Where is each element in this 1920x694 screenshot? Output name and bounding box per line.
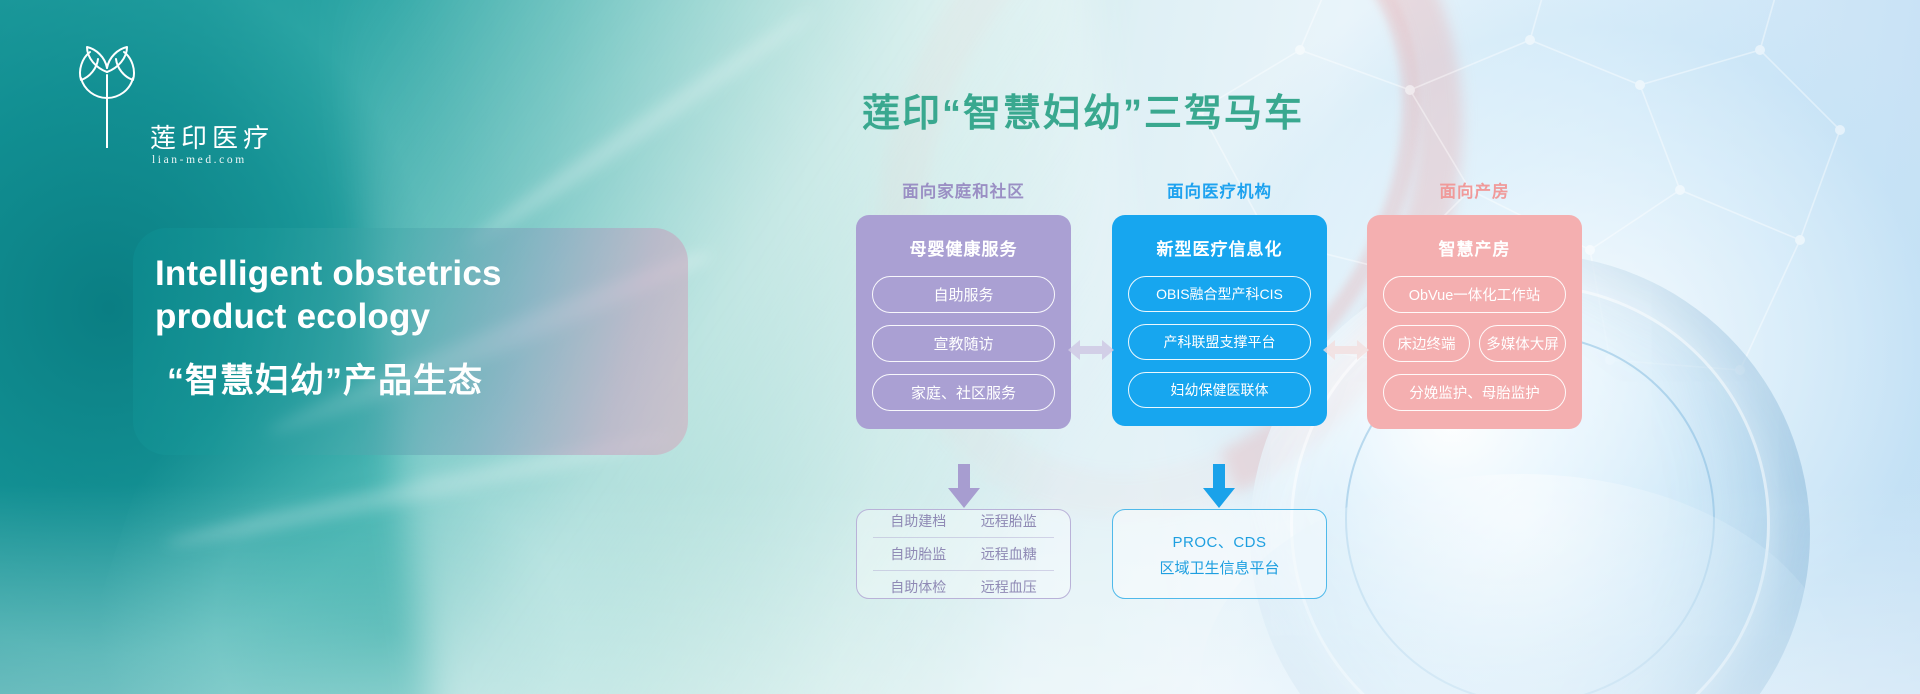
column-medical-institution: 面向医疗机构 新型医疗信息化 OBIS融合型产科CIS 产科联盟支撑平台 妇幼保…	[1112, 178, 1327, 426]
pill-obis-cis[interactable]: OBIS融合型产科CIS	[1128, 276, 1311, 312]
pill-self-service[interactable]: 自助服务	[872, 276, 1055, 313]
card-new-medical-informatization[interactable]: 新型医疗信息化 OBIS融合型产科CIS 产科联盟支撑平台 妇幼保健医联体	[1112, 215, 1327, 426]
column-header-3: 面向产房	[1367, 178, 1582, 202]
card-maternal-health-service[interactable]: 母婴健康服务 自助服务 宣教随访 家庭、社区服务	[856, 215, 1071, 429]
card-title-1: 母婴健康服务	[872, 235, 1055, 260]
column-header-2: 面向医疗机构	[1112, 178, 1327, 202]
column-delivery-room: 面向产房 智慧产房 ObVue一体化工作站 床边终端 多媒体大屏 分娩监护、母胎…	[1367, 178, 1582, 429]
pill-family-community-service[interactable]: 家庭、社区服务	[872, 374, 1055, 411]
bottom-cell-remote-glucose: 远程血糖	[964, 544, 1055, 564]
pill-maternal-child-health-union[interactable]: 妇幼保健医联体	[1128, 372, 1311, 408]
column-header-1: 面向家庭和社区	[856, 178, 1071, 202]
logo-url: lian-med.com	[152, 154, 247, 166]
bottom-grid-1: 自助建档 远程胎监 自助胎监 远程血糖 自助体检 远程血压	[857, 505, 1070, 603]
bottom-box-family-services[interactable]: 自助建档 远程胎监 自助胎监 远程血糖 自助体检 远程血压	[856, 509, 1071, 599]
bottom-cell-self-record: 自助建档	[873, 511, 964, 531]
slide-canvas: 莲印医疗 lian-med.com Intelligent obstetrics…	[0, 0, 1920, 694]
pill-multimedia-screen[interactable]: 多媒体大屏	[1479, 325, 1566, 362]
panel-english-line-2: product ecology	[155, 295, 666, 338]
panel-english-title: Intelligent obstetrics product ecology	[155, 252, 666, 339]
brand-logo: 莲印医疗 lian-med.com	[58, 28, 268, 148]
bottom-box-2-line-1: PROC、CDS	[1172, 531, 1266, 552]
pill-row-bedside: 床边终端 多媒体大屏	[1383, 325, 1566, 362]
left-title-panel: Intelligent obstetrics product ecology “…	[133, 228, 688, 455]
bottom-cell-remote-fetal: 远程胎监	[964, 511, 1055, 531]
column-family-community: 面向家庭和社区 母婴健康服务 自助服务 宣教随访 家庭、社区服务	[856, 178, 1071, 429]
bottom-cell-self-checkup: 自助体检	[873, 577, 964, 597]
bottom-row-2: 自助胎监 远程血糖	[873, 538, 1054, 571]
pill-delivery-fetal-monitoring[interactable]: 分娩监护、母胎监护	[1383, 374, 1566, 411]
pill-bedside-terminal[interactable]: 床边终端	[1383, 325, 1470, 362]
bottom-box-2-line-2: 区域卫生信息平台	[1159, 557, 1279, 578]
panel-english-line-1: Intelligent obstetrics	[155, 252, 666, 295]
card-title-2: 新型医疗信息化	[1128, 235, 1311, 260]
page-title: 莲印“智慧妇幼”三驾马车	[862, 82, 1304, 137]
pill-obstetric-alliance-platform[interactable]: 产科联盟支撑平台	[1128, 324, 1311, 360]
arrow-down-icon-2	[1202, 464, 1236, 508]
bottom-cell-remote-bp: 远程血压	[964, 577, 1055, 597]
double-arrow-horizontal-icon-2	[1323, 337, 1369, 363]
double-arrow-horizontal-icon-1	[1068, 337, 1114, 363]
lotus-logo-icon	[66, 28, 150, 148]
pill-education-followup[interactable]: 宣教随访	[872, 325, 1055, 362]
bottom-row-1: 自助建档 远程胎监	[873, 505, 1054, 538]
pill-obvue-workstation[interactable]: ObVue一体化工作站	[1383, 276, 1566, 313]
bottom-box-regional-platform[interactable]: PROC、CDS 区域卫生信息平台	[1112, 509, 1327, 599]
bottom-cell-self-fetal: 自助胎监	[873, 544, 964, 564]
panel-chinese-title: “智慧妇幼”产品生态	[167, 353, 666, 402]
arrow-down-icon-1	[947, 464, 981, 508]
logo-name: 莲印医疗	[150, 118, 274, 155]
card-smart-delivery-room[interactable]: 智慧产房 ObVue一体化工作站 床边终端 多媒体大屏 分娩监护、母胎监护	[1367, 215, 1582, 429]
card-title-3: 智慧产房	[1383, 235, 1566, 260]
bottom-row-3: 自助体检 远程血压	[873, 571, 1054, 603]
